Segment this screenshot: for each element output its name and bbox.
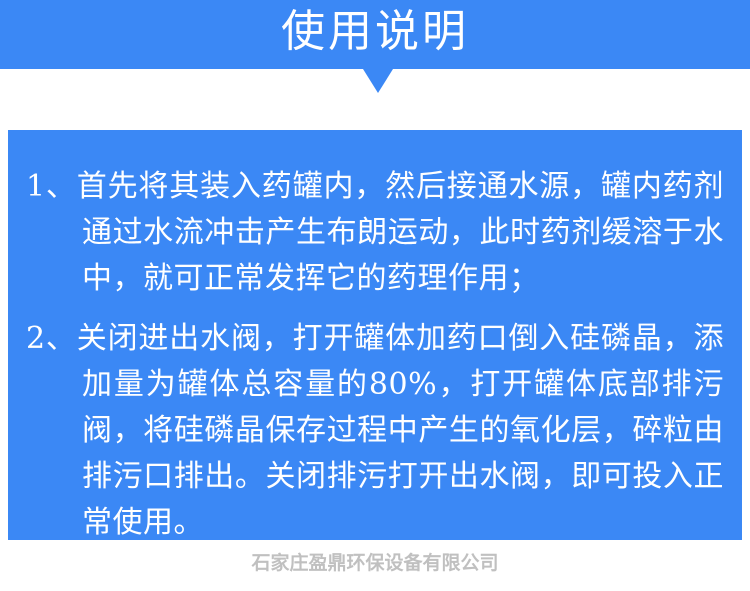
page-title: 使用说明 <box>0 0 750 69</box>
footer-area: 石家庄盈鼎环保设备有限公司 <box>0 540 750 591</box>
triangle-down-icon <box>363 69 393 93</box>
instruction-list: 1、首先将其装入药罐内，然后接通水源，罐内药剂通过水流冲击产生布朗运动，此时药剂… <box>26 164 724 546</box>
instructions-card: 1、首先将其装入药罐内，然后接通水源，罐内药剂通过水流冲击产生布朗运动，此时药剂… <box>8 130 742 540</box>
list-item: 2、关闭进出水阀，打开罐体加药口倒入硅磷晶，添加量为罐体总容量的80%，打开罐体… <box>26 316 724 546</box>
list-item: 1、首先将其装入药罐内，然后接通水源，罐内药剂通过水流冲击产生布朗运动，此时药剂… <box>26 164 724 302</box>
header-banner: 使用说明 <box>0 0 750 69</box>
company-watermark: 石家庄盈鼎环保设备有限公司 <box>0 548 750 575</box>
instruction-page: 使用说明 1、首先将其装入药罐内，然后接通水源，罐内药剂通过水流冲击产生布朗运动… <box>0 0 750 591</box>
